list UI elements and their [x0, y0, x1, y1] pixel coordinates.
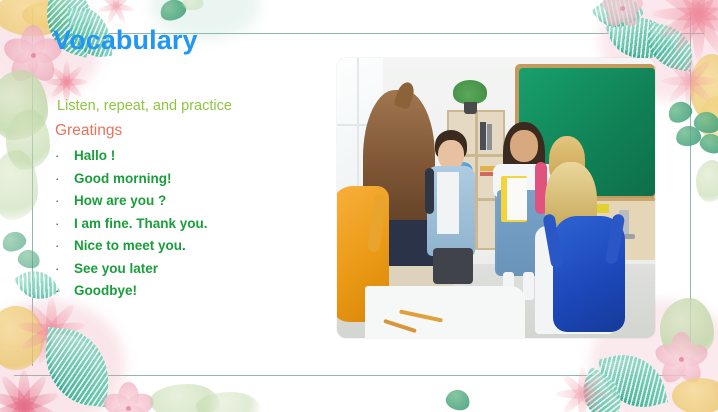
photo-plant-leaves [453, 80, 487, 104]
bullet-dot-icon: · [52, 149, 74, 162]
photo-folder-white [507, 178, 527, 220]
sage-leaf [196, 392, 260, 412]
cherry-blossom [596, 0, 648, 34]
instruction-subtitle: Listen, repeat, and practice [57, 98, 232, 114]
list-item: ·Hallo ! [52, 148, 208, 171]
phrase-text: I am fine. Thank you. [74, 216, 208, 231]
cherry-blossom [96, 376, 160, 412]
photo-shelf-divider [475, 110, 478, 250]
list-item: ·How are you ? [52, 193, 208, 216]
bullet-dot-icon: · [52, 284, 74, 297]
list-item: ·I am fine. Thank you. [52, 216, 208, 239]
rule-line-left [32, 8, 33, 366]
photo-child-pants [433, 248, 473, 284]
sage-leaf [182, 0, 204, 10]
section-heading: Greatings [55, 122, 122, 140]
bullet-dot-icon: · [52, 194, 74, 207]
sage-leaf [6, 110, 50, 170]
phrase-text: Hallo ! [74, 148, 115, 163]
pink-starburst-flower [650, 0, 718, 62]
pink-starburst-flower [16, 296, 86, 366]
greeting-phrase-list: ·Hallo !·Good morning!·How are you ?·I a… [52, 148, 208, 306]
phrase-text: Goodbye! [74, 283, 137, 298]
list-item: ·Nice to meet you. [52, 238, 208, 261]
gold-wheat-spray [690, 54, 718, 122]
sage-leaf [660, 298, 714, 360]
round-green-leaf [675, 124, 703, 147]
round-green-leaf [692, 110, 718, 136]
photo-child-face [510, 130, 538, 162]
round-green-leaf [697, 131, 718, 157]
bullet-dot-icon: · [52, 239, 74, 252]
slide-canvas: Vocabulary Listen, repeat, and practice … [0, 0, 718, 412]
gold-wheat-spray [700, 96, 718, 144]
photo-book [487, 124, 492, 150]
list-item: ·Good morning! [52, 171, 208, 194]
phrase-text: Good morning! [74, 171, 171, 186]
pink-starburst-flower [660, 52, 718, 110]
sage-leaf [150, 384, 220, 412]
classroom-photo [337, 58, 655, 338]
rule-line-bottom [14, 375, 686, 376]
list-item: ·Goodbye! [52, 283, 208, 306]
round-green-leaf [158, 0, 189, 24]
striped-teal-leaf [573, 367, 631, 412]
photo-child-sock [523, 272, 534, 300]
phrase-text: See you later [74, 261, 158, 276]
sage-leaf [0, 70, 48, 140]
photo-plant-pot [464, 102, 477, 114]
cherry-blossom [648, 326, 714, 392]
rule-line-right [690, 12, 691, 342]
photo-desk [365, 286, 525, 338]
page-title: Vocabulary [53, 26, 198, 56]
list-item: ·See you later [52, 261, 208, 284]
pink-starburst-flower [96, 0, 136, 26]
phrase-text: Nice to meet you. [74, 238, 186, 253]
pink-starburst-flower [554, 366, 610, 412]
photo-child-undershirt [437, 172, 459, 234]
photo-book [480, 122, 486, 150]
bullet-dot-icon: · [52, 262, 74, 275]
wash-blob [0, 300, 125, 412]
round-green-leaf [16, 248, 42, 271]
gold-wheat-spray [672, 378, 718, 412]
striped-teal-leaf [598, 346, 668, 412]
sage-leaf [696, 160, 718, 202]
photo-backpack-strap [425, 168, 434, 214]
gold-wheat-spray [0, 306, 44, 370]
striped-teal-leaf [40, 327, 113, 407]
bullet-dot-icon: · [52, 217, 74, 230]
phrase-text: How are you ? [74, 193, 166, 208]
round-green-leaf [444, 387, 473, 412]
round-green-leaf [0, 228, 29, 254]
bullet-dot-icon: · [52, 172, 74, 185]
